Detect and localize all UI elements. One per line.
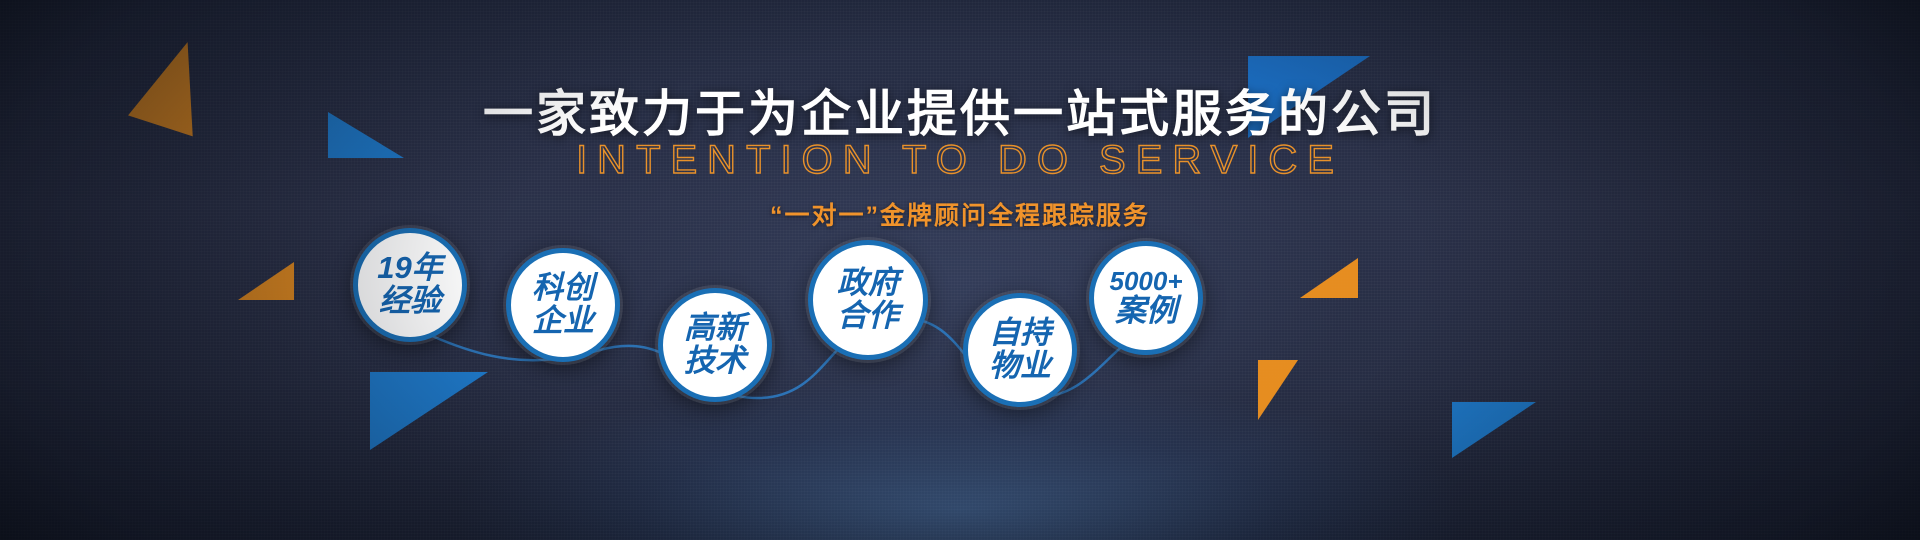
badge-line-2: 物业 [989, 350, 1051, 383]
feature-badge[interactable]: 科创企业 [506, 248, 620, 362]
promo-banner: 一家致力于为企业提供一站式服务的公司 INTENTION TO DO SERVI… [0, 0, 1920, 540]
badge-line-2: 经验 [379, 285, 441, 318]
triangle-orange-bottom-right [1258, 360, 1298, 420]
feature-badge[interactable]: 19年经验 [353, 228, 467, 342]
triangle-orange-mid-left [238, 262, 294, 300]
triangle-orange-right [1300, 258, 1358, 298]
badge-line-2: 合作 [837, 300, 899, 333]
feature-badge[interactable]: 政府合作 [808, 240, 928, 360]
triangle-blue-bottom-left [370, 372, 488, 450]
badge-line-2: 案例 [1115, 295, 1177, 328]
badge-line-1: 自持 [989, 317, 1051, 350]
badge-line-2: 技术 [684, 345, 746, 378]
feature-badge[interactable]: 高新技术 [658, 288, 772, 402]
badge-line-1: 科创 [532, 272, 594, 305]
page-title: 一家致力于为企业提供一站式服务的公司 [0, 74, 1920, 146]
feature-badge[interactable]: 5000+案例 [1089, 241, 1203, 355]
badge-line-1: 19年 [377, 252, 442, 285]
service-tagline: “一对一”金牌顾问全程跟踪服务 [0, 196, 1920, 232]
english-subtitle: INTENTION TO DO SERVICE [0, 138, 1920, 183]
triangle-blue-far-right [1452, 402, 1536, 458]
feature-badge[interactable]: 自持物业 [963, 293, 1077, 407]
badge-line-2: 企业 [532, 305, 594, 338]
bottom-glow [460, 380, 1460, 540]
badge-line-1: 政府 [837, 267, 899, 300]
badge-line-1: 5000+ [1109, 268, 1182, 296]
badge-line-1: 高新 [684, 312, 746, 345]
